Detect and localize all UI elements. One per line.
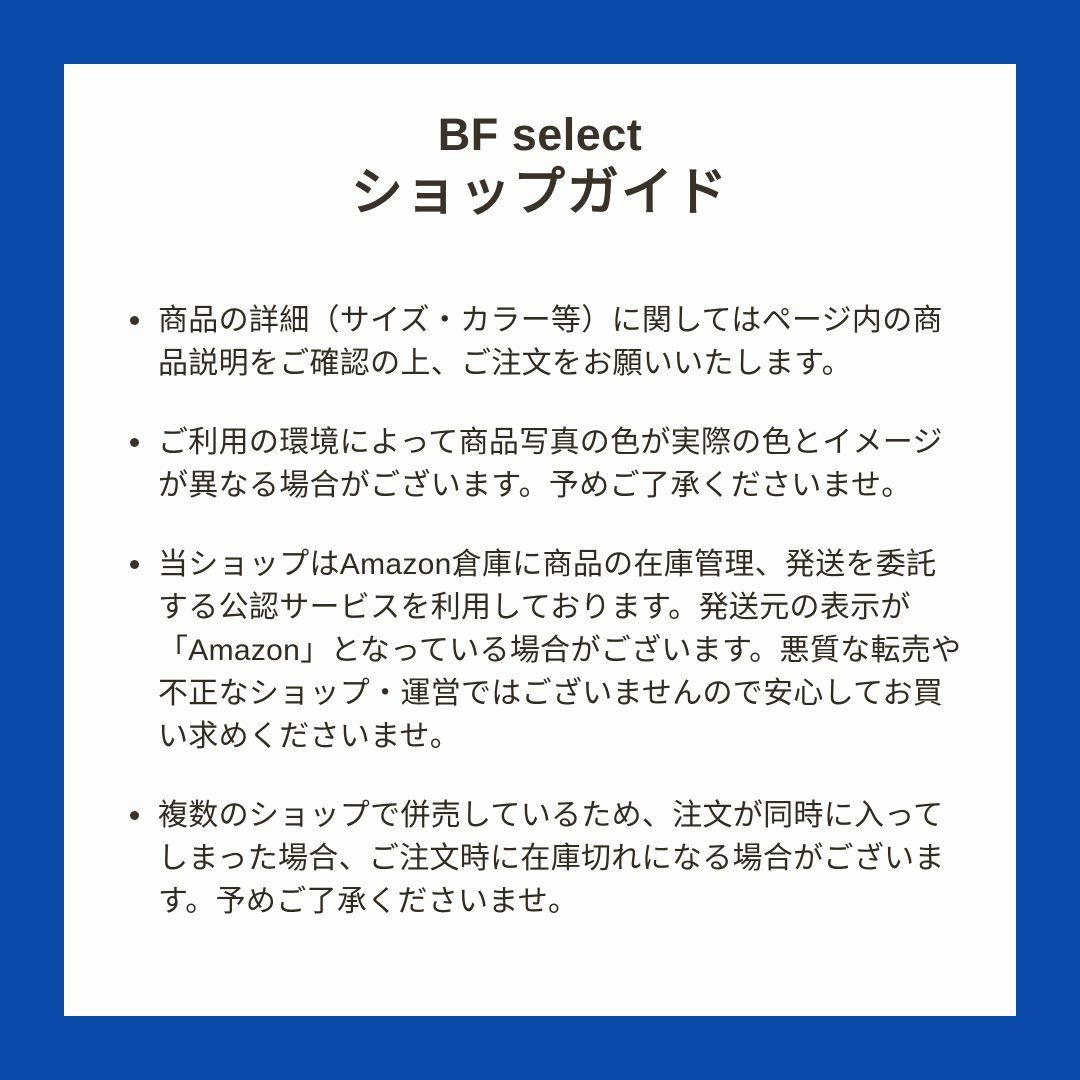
bullet-dot-icon	[130, 316, 139, 325]
guide-notes-list: 商品の詳細（サイズ・カラー等）に関してはページ内の商品説明をご確認の上、ご注文を…	[64, 299, 1016, 923]
list-item: 当ショップはAmazon倉庫に商品の在庫管理、発送を委託する公認サービスを利用し…	[130, 543, 962, 758]
brand-title: BF select	[64, 108, 1016, 161]
bullet-dot-icon	[130, 811, 139, 820]
list-item-text: 当ショップはAmazon倉庫に商品の在庫管理、発送を委託する公認サービスを利用し…	[158, 543, 962, 758]
page-title: BF select ショップガイド	[64, 64, 1016, 227]
list-item-text: ご利用の環境によって商品写真の色が実際の色とイメージが異なる場合がございます。予…	[158, 421, 962, 507]
blue-border-frame: BF select ショップガイド 商品の詳細（サイズ・カラー等）に関してはペー…	[0, 0, 1080, 1080]
bullet-dot-icon	[130, 438, 139, 447]
list-item-text: 商品の詳細（サイズ・カラー等）に関してはページ内の商品説明をご確認の上、ご注文を…	[158, 299, 962, 385]
list-item: 商品の詳細（サイズ・カラー等）に関してはページ内の商品説明をご確認の上、ご注文を…	[130, 299, 962, 385]
list-item-text: 複数のショップで併売しているため、注文が同時に入ってしまった場合、ご注文時に在庫…	[158, 794, 962, 923]
guide-subtitle: ショップガイド	[64, 161, 1016, 227]
list-item: ご利用の環境によって商品写真の色が実際の色とイメージが異なる場合がございます。予…	[130, 421, 962, 507]
guide-card: BF select ショップガイド 商品の詳細（サイズ・カラー等）に関してはペー…	[64, 64, 1016, 1016]
bullet-dot-icon	[130, 560, 139, 569]
list-item: 複数のショップで併売しているため、注文が同時に入ってしまった場合、ご注文時に在庫…	[130, 794, 962, 923]
